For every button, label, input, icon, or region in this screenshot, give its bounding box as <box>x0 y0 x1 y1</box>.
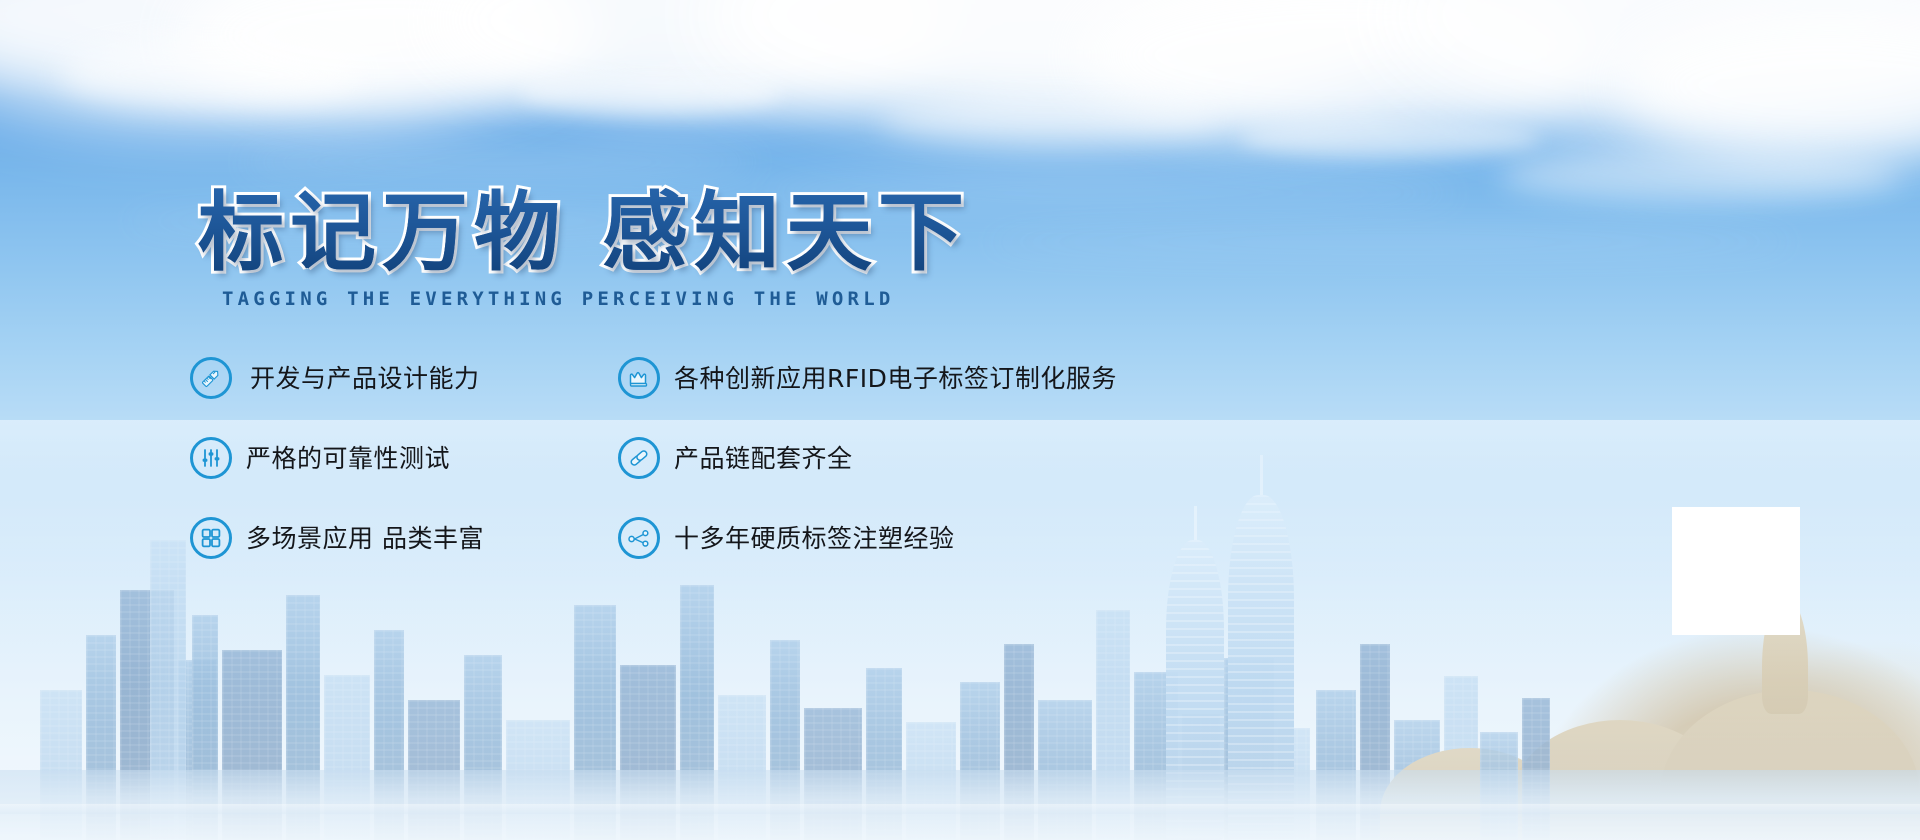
feature-item: 多场景应用 品类丰富 <box>190 516 520 560</box>
grid-icon <box>190 517 232 559</box>
promo-banner: 标记万物 感知天下 标记万物 感知天下 TAGGING THE EVERYTHI… <box>0 0 1920 840</box>
link-icon <box>618 437 660 479</box>
qr-code[interactable] <box>1672 507 1800 635</box>
feature-item: 产品链配套齐全 <box>618 436 1258 480</box>
page-subtitle: TAGGING THE EVERYTHING PERCEIVING THE WO… <box>222 288 894 310</box>
page-title-fill: 标记万物 感知天下 <box>198 162 970 287</box>
feature-label: 开发与产品设计能力 <box>250 366 480 391</box>
feature-column-right: 各种创新应用RFID电子标签订制化服务 产品链配套齐全 <box>618 356 1258 596</box>
share-nodes-icon <box>618 517 660 559</box>
feature-label: 产品链配套齐全 <box>674 446 853 471</box>
feature-label: 严格的可靠性测试 <box>246 446 450 471</box>
feature-column-left: 开发与产品设计能力 严格的可靠性测试 <box>190 356 520 596</box>
feature-label: 各种创新应用RFID电子标签订制化服务 <box>674 366 1117 391</box>
feature-label: 十多年硬质标签注塑经验 <box>674 526 955 551</box>
crown-icon <box>618 357 660 399</box>
feature-item: 十多年硬质标签注塑经验 <box>618 516 1258 560</box>
sliders-icon <box>190 437 232 479</box>
feature-item: 严格的可靠性测试 <box>190 436 520 480</box>
feature-label: 多场景应用 品类丰富 <box>246 526 484 551</box>
ruler-pencil-icon <box>190 357 232 399</box>
feature-item: 开发与产品设计能力 <box>190 356 520 400</box>
feature-item: 各种创新应用RFID电子标签订制化服务 <box>618 356 1258 400</box>
